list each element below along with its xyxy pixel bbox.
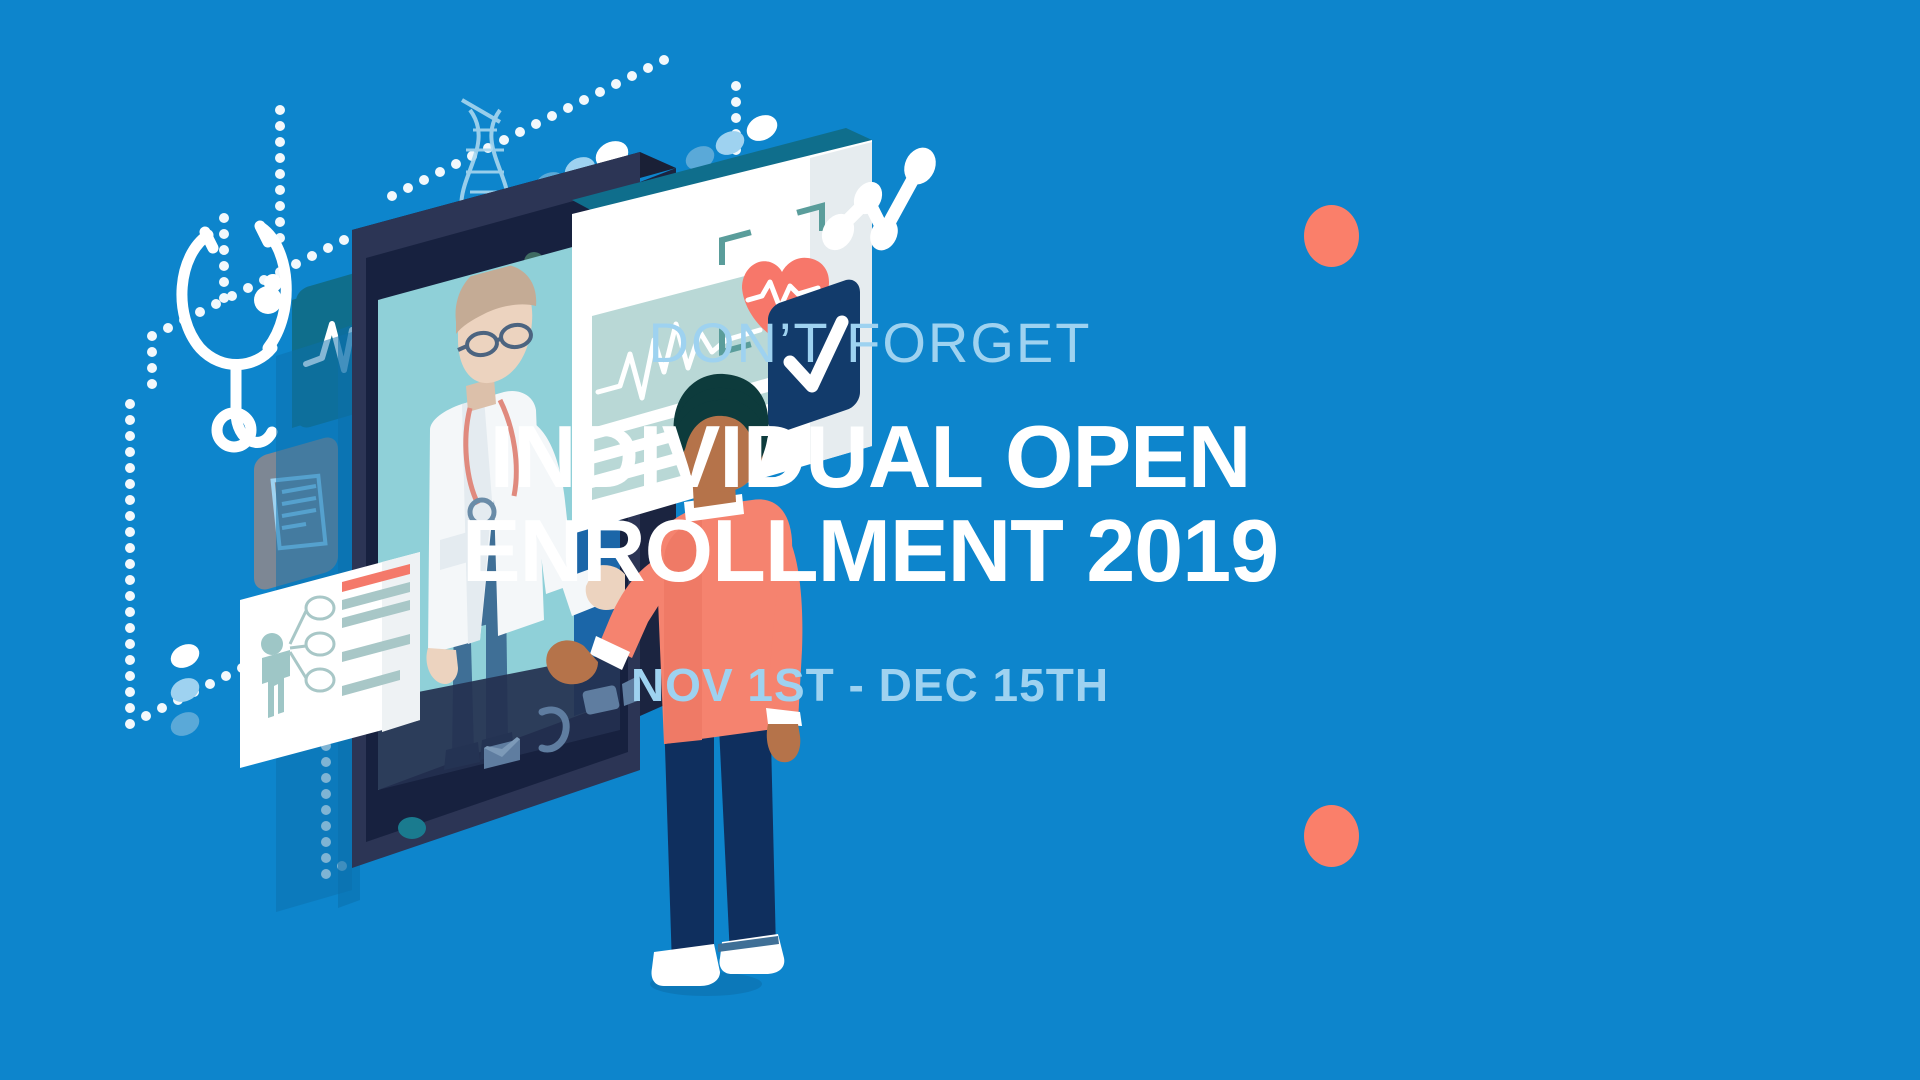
promo-date-range: NOV 1ST - DEC 15TH [0,662,1740,708]
coral-dot-top-icon [1304,205,1359,267]
promo-banner: DON’T FORGET INDIVIDUAL OPEN ENROLLMENT … [0,0,1920,1080]
promo-eyebrow: DON’T FORGET [0,315,1740,371]
promo-headline-line1: INDIVIDUAL OPEN [490,407,1251,506]
promo-headline-line2: ENROLLMENT 2019 [0,504,1740,598]
promo-headline: INDIVIDUAL OPEN ENROLLMENT 2019 [0,410,1740,598]
coral-dot-bottom-icon [1304,805,1359,867]
